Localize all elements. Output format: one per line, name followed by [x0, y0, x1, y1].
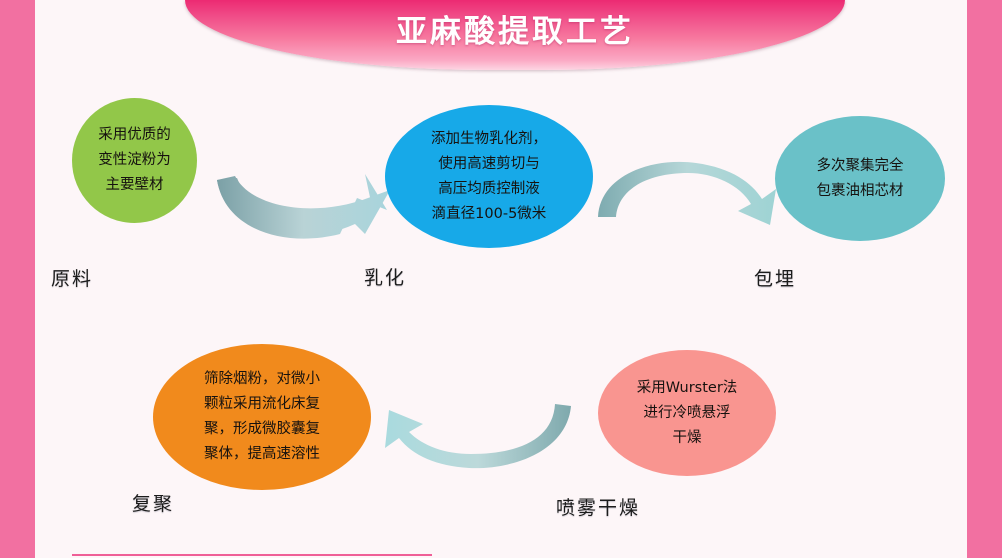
node-label-reaggregation: 复聚	[132, 489, 174, 516]
bubble-text-embedding: 多次聚集完全 包裹油相芯材	[811, 154, 910, 204]
node-label-raw-material: 原料	[51, 264, 93, 291]
bubble-text-reaggregation: 筛除烟粉，对微小 颗粒采用流化床复 聚，形成微胶囊复 聚体，提高速溶性	[198, 367, 326, 467]
bubble-text-spray-drying: 采用Wurster法 进行冷喷悬浮 干燥	[631, 376, 744, 451]
title-ribbon: 亚麻酸提取工艺	[185, 0, 845, 70]
bubble-text-raw-material: 采用优质的 变性淀粉为 主要壁材	[92, 123, 177, 198]
node-label-spray-drying: 喷雾干燥	[556, 493, 640, 520]
bubble-embedding: 多次聚集完全 包裹油相芯材	[775, 116, 945, 241]
left-border-bar	[0, 0, 35, 558]
right-border-bar	[967, 0, 1002, 558]
bubble-text-emulsification: 添加生物乳化剂， 使用高速剪切与 高压均质控制液 滴直径100-5微米	[425, 127, 553, 227]
node-label-emulsification: 乳化	[364, 263, 406, 290]
page-title: 亚麻酸提取工艺	[185, 0, 845, 70]
bubble-reaggregation: 筛除烟粉，对微小 颗粒采用流化床复 聚，形成微胶囊复 聚体，提高速溶性	[153, 344, 371, 490]
bottom-divider	[72, 554, 432, 556]
bubble-emulsification: 添加生物乳化剂， 使用高速剪切与 高压均质控制液 滴直径100-5微米	[385, 105, 593, 248]
bubble-spray-drying: 采用Wurster法 进行冷喷悬浮 干燥	[598, 350, 776, 476]
diagram-canvas	[35, 0, 967, 558]
node-label-embedding: 包埋	[754, 264, 796, 291]
page-root: 亚麻酸提取工艺	[0, 0, 1002, 558]
bubble-raw-material: 采用优质的 变性淀粉为 主要壁材	[72, 98, 197, 223]
